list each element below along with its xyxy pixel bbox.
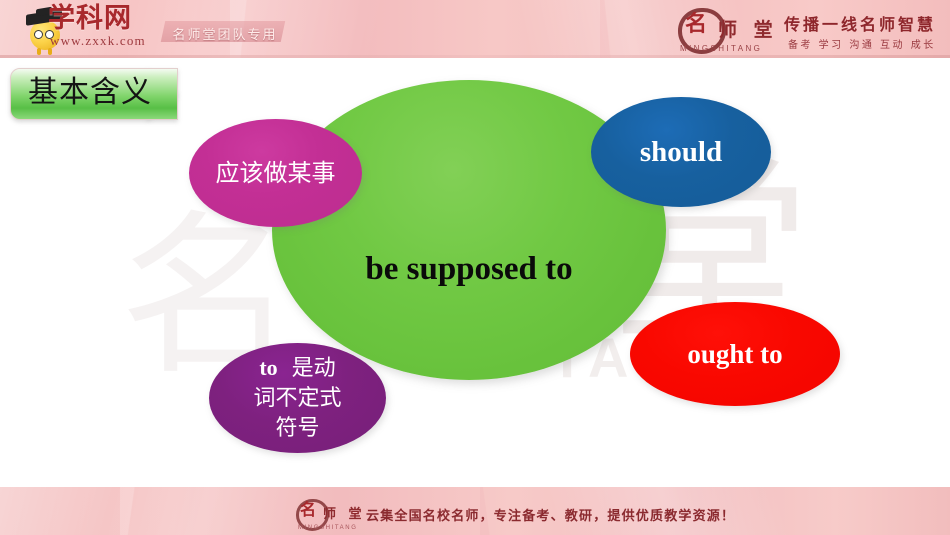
footer-logo[interactable]: 名 师 堂 — [296, 498, 352, 528]
zxxk-brand-name: 学科网 — [48, 3, 132, 34]
ellipse-ought-to[interactable]: ought to — [630, 302, 840, 406]
footer-pinyin: MINGSHITANG — [298, 525, 358, 531]
page-title: 基本含义 — [14, 74, 166, 112]
ellipse-to-note-label-cn-3: 符号 — [275, 416, 319, 441]
mingshitang-subtagline: 备考 学习 沟通 互动 成长 — [788, 36, 936, 51]
ellipse-to-note-label-cn-2: 词不定式 — [253, 386, 341, 411]
footer-ming-char: 名 — [300, 501, 316, 519]
mascot-leg-right — [48, 48, 52, 55]
presentation-slide: 堂 TANG 名 学科网 www.zxxk.com 名师堂团队专用 名 师 堂 … — [0, 0, 950, 535]
ellipse-to-note-label-cn-1: 是动 — [292, 356, 336, 381]
mingshitang-shitang-chars: 师 堂 — [718, 15, 778, 42]
mingshitang-pinyin: MINGSHITANG — [680, 44, 762, 53]
team-badge-label: 名师堂团队专用 — [170, 24, 280, 43]
zxxk-brand-url: www.zxxk.com — [50, 33, 146, 49]
ellipse-should[interactable]: should — [591, 97, 771, 207]
ellipse-meaning-label: 应该做某事 — [216, 158, 336, 189]
ellipse-meaning[interactable]: 应该做某事 — [189, 119, 362, 227]
ellipse-to-note-label-en: to — [259, 355, 277, 380]
ellipse-to-note[interactable]: to 是动 词不定式 符号 — [209, 343, 386, 453]
center-ellipse-label: be supposed to — [365, 251, 572, 288]
footer-shitang-chars: 师 堂 — [323, 503, 366, 522]
footer-slogan: 云集全国名校名师，专注备考、教研，提供优质教学资源！ — [366, 505, 735, 524]
ellipse-should-label: should — [640, 136, 722, 169]
mascot-leg-left — [37, 48, 41, 55]
mascot-eye-left — [34, 30, 43, 39]
mingshitang-ming-char: 名 — [685, 13, 707, 37]
ellipse-to-note-label: to 是动 词不定式 符号 — [223, 353, 373, 444]
mingshitang-tagline: 传播一线名师智慧 — [784, 11, 936, 35]
ellipse-ought-to-label: ought to — [687, 339, 782, 370]
